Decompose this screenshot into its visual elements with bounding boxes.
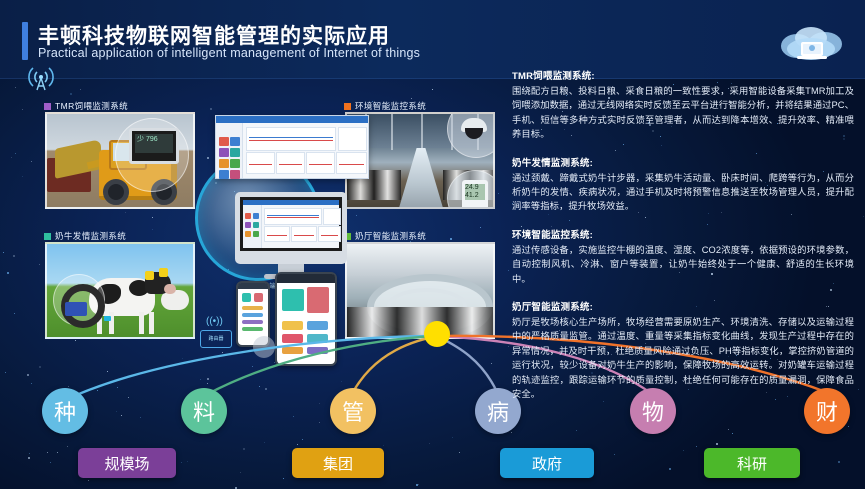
node-label: 种 xyxy=(54,395,76,427)
section-title: 奶厅智能监测系统: xyxy=(512,299,854,313)
title-accent-bar xyxy=(22,22,28,60)
panel-label-environment: 环境智能监控系统 xyxy=(344,100,426,112)
section-body: 通过传感设备，实施监控牛棚的温度、湿度、CO2浓度等，依据预设的环境参数，自动控… xyxy=(512,243,854,286)
node-zhong[interactable]: 种 xyxy=(42,388,88,434)
chip-label: 科研 xyxy=(737,453,767,474)
node-liao[interactable]: 料 xyxy=(181,388,227,434)
description-panel: TMR饲喂监测系统: 围绕配方日粮、投料日粮、采食日粮的一致性要求，采用智能设备… xyxy=(512,68,854,415)
panel-label-tmr: TMR饲喂监测系统 xyxy=(44,100,128,112)
section-title: 奶牛发情监测系统: xyxy=(512,155,854,169)
node-label: 管 xyxy=(342,395,364,427)
slide-canvas: 丰顿科技物联网智能管理的实际应用 Practical application o… xyxy=(0,0,865,489)
chip-government[interactable]: 政府 xyxy=(500,448,594,478)
chip-label: 政府 xyxy=(532,453,562,474)
chip-farm[interactable]: 规模场 xyxy=(78,448,176,478)
chip-research[interactable]: 科研 xyxy=(704,448,800,478)
radio-tower-icon xyxy=(26,62,56,92)
page-title-en: Practical application of intelligent man… xyxy=(38,46,420,60)
monitor-screen-dashboard xyxy=(240,197,342,251)
panel-label-milking: 奶厅智能监测系统 xyxy=(344,230,426,242)
chip-label: 规模场 xyxy=(104,453,149,474)
node-label: 料 xyxy=(193,395,215,427)
section-body: 奶厅是牧场核心生产场所，牧场经营需要原奶生产、环境清洗、存储以及运输过程中的严格… xyxy=(512,315,854,401)
section-environment: 环境智能监控系统: 通过传感设备，实施监控牛棚的温度、湿度、CO2浓度等，依据预… xyxy=(512,227,854,286)
panel-label-estrus: 奶牛发情监测系统 xyxy=(44,230,126,242)
section-estrus: 奶牛发情监测系统: 通过颈戴、蹄戴式奶牛计步器，采集奶牛活动量、卧床时间、爬跨等… xyxy=(512,155,854,214)
dairy-cow-pasture-photo xyxy=(45,242,195,339)
panel-marker-estrus xyxy=(44,233,51,240)
gateway-node-icon xyxy=(253,336,275,358)
section-tmr: TMR饲喂监测系统: 围绕配方日粮、投料日粮、采食日粮的一致性要求，采用智能设备… xyxy=(512,68,854,142)
pc-dashboard-window xyxy=(215,115,369,179)
node-guan[interactable]: 管 xyxy=(330,388,376,434)
node-label: 病 xyxy=(487,395,509,427)
milking-parlour-photo xyxy=(345,242,495,339)
router-device: 路由器 xyxy=(200,330,232,348)
panel-marker-tmr xyxy=(44,103,51,110)
tmr-feed-loader-photo: 少 796 xyxy=(45,112,195,209)
section-title: 环境智能监控系统: xyxy=(512,227,854,241)
chip-label: 集团 xyxy=(323,453,353,474)
mobile-phone-large xyxy=(275,272,337,366)
panel-marker-environment xyxy=(344,103,351,110)
section-body: 通过颈戴、蹄戴式奶牛计步器，采集奶牛活动量、卧床时间、爬跨等行为，从而分析奶牛的… xyxy=(512,171,854,214)
section-title: TMR饲喂监测系统: xyxy=(512,68,854,82)
desktop-monitor xyxy=(235,192,347,264)
cloud-computer-icon xyxy=(775,22,847,64)
chip-group[interactable]: 集团 xyxy=(292,448,384,478)
temperature-humidity-sensor: 24.941.2 xyxy=(462,180,488,209)
tmr-display-closeup: 少 796 xyxy=(129,128,179,164)
cow-collar-device xyxy=(65,302,87,316)
section-body: 围绕配方日粮、投料日粮、采食日粮的一致性要求，采用智能设备采集TMR加工及饲喂添… xyxy=(512,84,854,142)
section-milking: 奶厅智能监测系统: 奶厅是牧场核心生产场所，牧场经营需要原奶生产、环境清洗、存储… xyxy=(512,299,854,401)
wifi-signal-icon: ((•)) xyxy=(206,316,223,327)
